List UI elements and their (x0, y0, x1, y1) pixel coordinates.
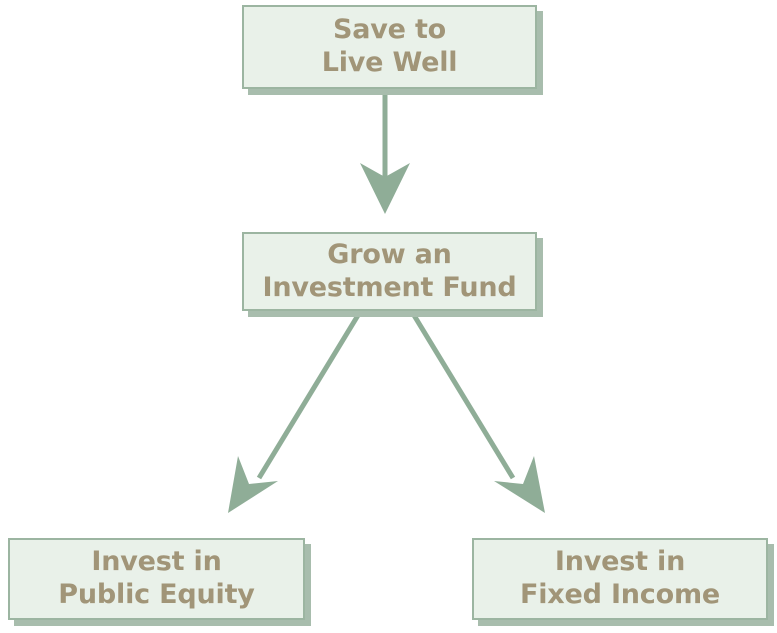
edge-grow-to-fixed-line (412, 312, 513, 478)
node-invest-in-fixed-income-label: Invest in Fixed Income (514, 546, 726, 612)
edge-grow-to-equity-arrowhead (228, 456, 278, 513)
node-grow-an-investment-fund[interactable]: Grow an Investment Fund (242, 232, 537, 311)
node-invest-in-fixed-income[interactable]: Invest in Fixed Income (472, 538, 768, 620)
edge-root-to-grow (360, 89, 410, 214)
flowchart-canvas: Save to Live Well Grow an Investment Fun… (0, 0, 777, 633)
edge-grow-to-equity-line (259, 312, 360, 478)
node-save-to-live-well[interactable]: Save to Live Well (242, 5, 537, 89)
edge-grow-to-equity (228, 312, 360, 513)
edge-grow-to-fixed-arrowhead (494, 456, 545, 513)
edge-root-to-grow-arrowhead (360, 163, 410, 214)
edge-grow-to-fixed (412, 312, 545, 513)
node-save-to-live-well-label: Save to Live Well (316, 14, 464, 80)
node-invest-in-public-equity-label: Invest in Public Equity (52, 546, 260, 612)
node-grow-an-investment-fund-label: Grow an Investment Fund (256, 239, 522, 305)
node-invest-in-public-equity[interactable]: Invest in Public Equity (8, 538, 305, 620)
